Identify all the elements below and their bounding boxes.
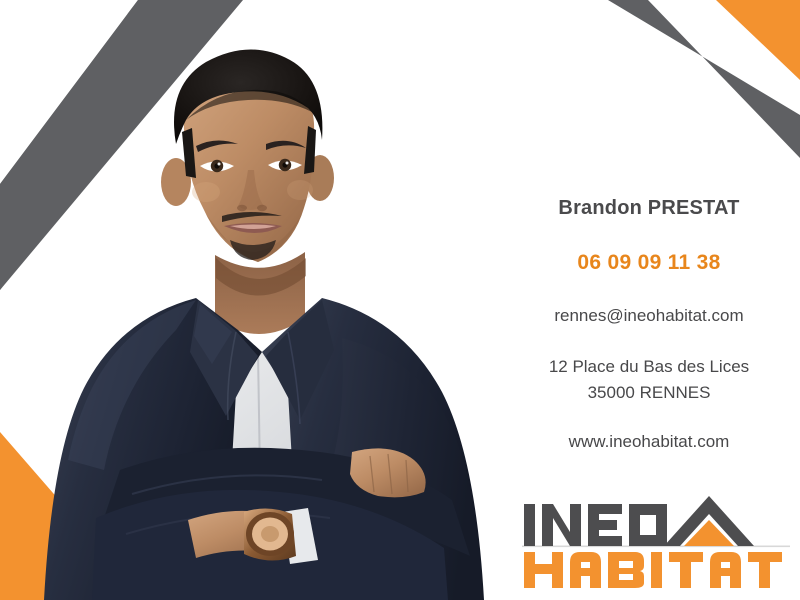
- roof-chevron-icon: [664, 496, 754, 546]
- logo-word-ineo: [524, 504, 667, 546]
- contact-email[interactable]: rennes@ineohabitat.com: [498, 305, 800, 326]
- portrait-photo: [0, 0, 520, 600]
- address-line-1: 12 Place du Bas des Lices: [549, 357, 749, 376]
- contact-website[interactable]: www.ineohabitat.com: [498, 431, 800, 452]
- business-card: Brandon PRESTAT 06 09 09 11 38 rennes@in…: [0, 0, 800, 600]
- contact-address: 12 Place du Bas des Lices 35000 RENNES: [498, 354, 800, 405]
- contact-name: Brandon PRESTAT: [498, 196, 800, 220]
- wristwatch: [244, 508, 296, 560]
- gray-diagonal-stripe-top-right: [608, 0, 800, 158]
- orange-diagonal-corner-top-right: [716, 0, 800, 80]
- address-line-2: 35000 RENNES: [498, 380, 800, 406]
- contact-block: Brandon PRESTAT 06 09 09 11 38 rennes@in…: [498, 196, 800, 453]
- contact-phone[interactable]: 06 09 09 11 38: [498, 250, 800, 275]
- logo-word-habitat: [524, 552, 782, 588]
- ineo-habitat-logo[interactable]: [522, 490, 790, 590]
